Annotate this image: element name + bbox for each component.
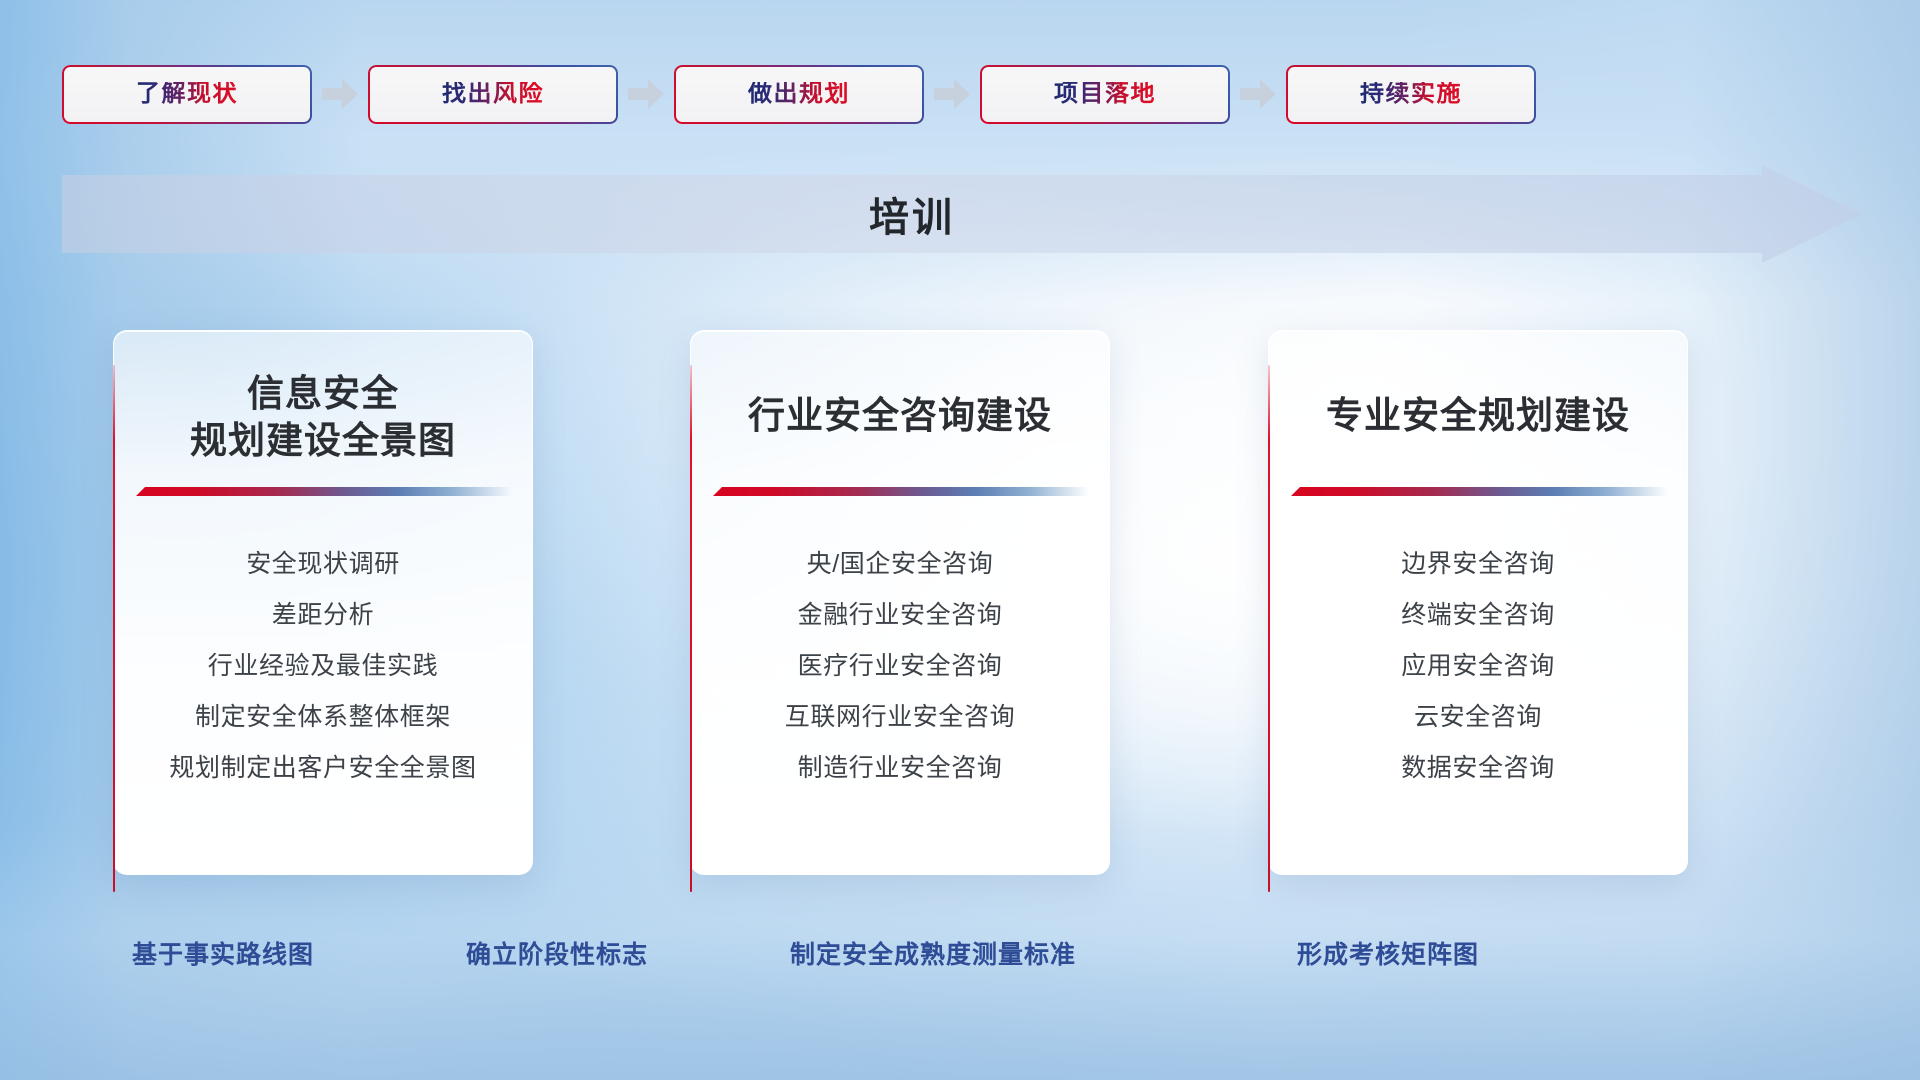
footnote-1: 基于事实路线图	[132, 935, 314, 971]
service-card-group: 信息安全 规划建设全景图 安全现状调研 差距分析 行业经验及最佳实践 制定安全体…	[0, 330, 1920, 875]
footnote-3: 制定安全成熟度测量标准	[790, 935, 1076, 971]
service-card-2-title: 行业安全咨询建设	[691, 393, 1109, 440]
step-label-5: 持续实施	[1360, 82, 1462, 106]
footnote-4: 形成考核矩阵图	[1297, 935, 1479, 971]
step-label-4: 项目落地	[1054, 82, 1156, 106]
list-item: 终端安全咨询	[1401, 590, 1555, 641]
list-item: 数据安全咨询	[1401, 743, 1555, 794]
service-card-2-list: 央/国企安全咨询 金融行业安全咨询 医疗行业安全咨询 互联网行业安全咨询 制造行…	[691, 539, 1109, 794]
service-card-3-title: 专业安全规划建设	[1269, 393, 1687, 440]
list-item: 应用安全咨询	[1401, 641, 1555, 692]
step-box-3[interactable]: 做出规划	[674, 65, 924, 124]
step-label-3: 做出规划	[748, 82, 850, 106]
step-label-2: 找出风险	[442, 82, 544, 106]
service-card-1-title-line-2: 规划建设全景图	[132, 418, 514, 465]
service-card-1-title: 信息安全 规划建设全景图	[114, 371, 532, 465]
service-card-2-title-line-1: 行业安全咨询建设	[709, 393, 1091, 440]
step-box-2[interactable]: 找出风险	[368, 65, 618, 124]
list-item: 行业经验及最佳实践	[208, 641, 438, 692]
list-item: 制造行业安全咨询	[798, 743, 1003, 794]
service-card-2[interactable]: 行业安全咨询建设 央/国企安全咨询 金融行业安全咨询 医疗行业安全咨询 互联网行…	[690, 330, 1110, 875]
list-item: 云安全咨询	[1414, 692, 1542, 743]
service-card-1[interactable]: 信息安全 规划建设全景图 安全现状调研 差距分析 行业经验及最佳实践 制定安全体…	[113, 330, 533, 875]
list-item: 央/国企安全咨询	[807, 539, 994, 590]
service-card-1-list: 安全现状调研 差距分析 行业经验及最佳实践 制定安全体系整体框架 规划制定出客户…	[114, 539, 532, 794]
list-item: 制定安全体系整体框架	[195, 692, 451, 743]
step-arrow-icon-4	[1240, 79, 1276, 109]
service-card-1-title-line-1: 信息安全	[132, 371, 514, 418]
training-banner: 培训	[62, 165, 1862, 263]
service-card-1-divider	[136, 487, 512, 496]
list-item: 安全现状调研	[246, 539, 400, 590]
step-label-1: 了解现状	[136, 82, 238, 106]
service-card-2-divider	[713, 487, 1089, 496]
step-arrow-icon-2	[628, 79, 664, 109]
step-arrow-icon-3	[934, 79, 970, 109]
step-box-5[interactable]: 持续实施	[1286, 65, 1536, 124]
footnote-row: 基于事实路线图 确立阶段性标志 制定安全成熟度测量标准 形成考核矩阵图	[0, 935, 1920, 985]
step-box-4[interactable]: 项目落地	[980, 65, 1230, 124]
service-card-3[interactable]: 专业安全规划建设 边界安全咨询 终端安全咨询 应用安全咨询 云安全咨询 数据安全…	[1268, 330, 1688, 875]
list-item: 互联网行业安全咨询	[785, 692, 1015, 743]
service-card-3-list: 边界安全咨询 终端安全咨询 应用安全咨询 云安全咨询 数据安全咨询	[1269, 539, 1687, 794]
footnote-2: 确立阶段性标志	[466, 935, 648, 971]
service-card-3-title-line-1: 专业安全规划建设	[1287, 393, 1669, 440]
training-banner-title: 培训	[62, 165, 1762, 263]
list-item: 规划制定出客户安全全景图	[169, 743, 476, 794]
step-box-1[interactable]: 了解现状	[62, 65, 312, 124]
process-step-row: 了解现状 找出风险 做出规划 项目落地	[62, 64, 1862, 124]
list-item: 金融行业安全咨询	[798, 590, 1003, 641]
list-item: 差距分析	[272, 590, 374, 641]
slide-stage: 了解现状 找出风险 做出规划 项目落地	[0, 0, 1920, 1080]
service-card-3-divider	[1291, 487, 1667, 496]
list-item: 边界安全咨询	[1401, 539, 1555, 590]
step-arrow-icon-1	[322, 79, 358, 109]
list-item: 医疗行业安全咨询	[798, 641, 1003, 692]
